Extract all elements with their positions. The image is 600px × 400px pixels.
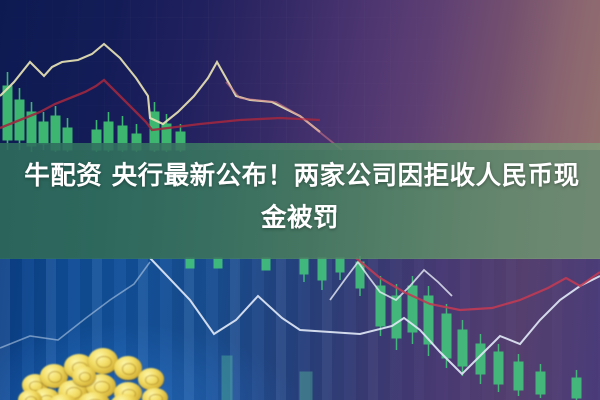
headline-line-2: 金被罚 [0, 197, 600, 239]
top-grid-overlay [0, 0, 600, 150]
headline-line-1: 牛配资 央行最新公布！两家公司因拒收人民币现 [0, 155, 600, 197]
news-banner-image: 牛配资 央行最新公布！两家公司因拒收人民币现 金被罚 [0, 0, 600, 400]
page-title: 牛配资 央行最新公布！两家公司因拒收人民币现 金被罚 [0, 155, 600, 239]
gold-coin-pile [18, 344, 188, 400]
